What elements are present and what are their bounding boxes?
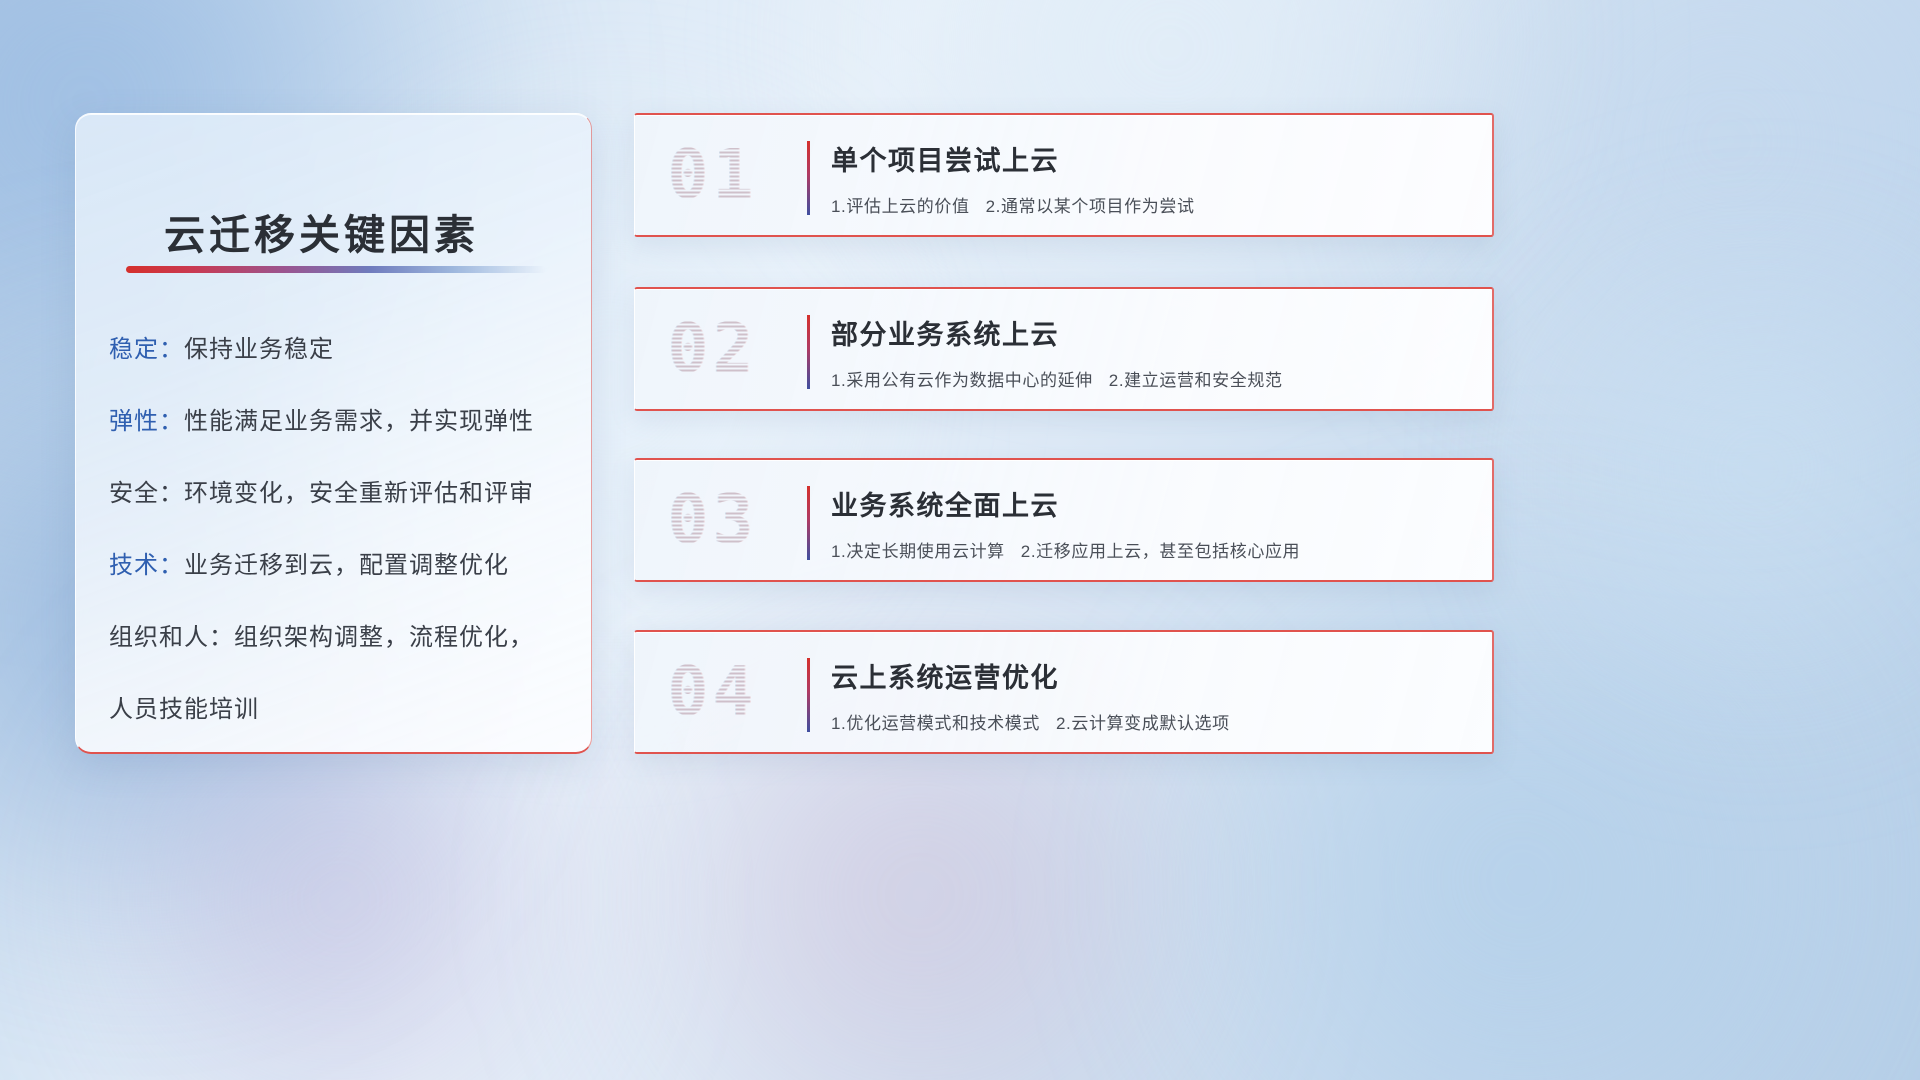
factor-text: 业务迁移到云，配置调整优化 xyxy=(184,552,509,579)
slide-stage: 云迁移关键因素 稳定：保持业务稳定弹性：性能满足业务需求，并实现弹性安全：环境变… xyxy=(0,0,1920,1080)
key-factors-panel: 云迁移关键因素 稳定：保持业务稳定弹性：性能满足业务需求，并实现弹性安全：环境变… xyxy=(75,113,592,754)
card-body: 部分业务系统上云 1.采用公有云作为数据中心的延伸2.建立运营和安全规范 xyxy=(831,313,1474,391)
card-divider-accent xyxy=(807,141,810,215)
card-body: 单个项目尝试上云 1.评估上云的价值2.通常以某个项目作为尝试 xyxy=(831,139,1474,217)
factor-item: 人员技能培训 xyxy=(109,674,571,746)
card-title: 部分业务系统上云 xyxy=(831,313,1474,352)
factor-label: 技术： xyxy=(109,552,184,579)
factor-label: 安全： xyxy=(109,480,184,507)
card-divider-accent xyxy=(807,315,810,389)
factor-text: 组织架构调整，流程优化， xyxy=(234,624,534,651)
card-point: 1.评估上云的价值 xyxy=(831,197,970,216)
factor-item: 技术：业务迁移到云，配置调整优化 xyxy=(109,530,571,602)
card-divider-accent xyxy=(807,658,810,732)
card-point: 1.采用公有云作为数据中心的延伸 xyxy=(831,371,1093,390)
card-title: 单个项目尝试上云 xyxy=(831,139,1474,178)
card-point: 2.建立运营和安全规范 xyxy=(1109,371,1283,390)
title-underline-accent xyxy=(126,266,546,273)
factor-item: 稳定：保持业务稳定 xyxy=(109,314,571,386)
factor-item: 组织和人：组织架构调整，流程优化， xyxy=(109,602,571,674)
factor-text: 保持业务稳定 xyxy=(184,336,334,363)
card-divider-accent xyxy=(807,486,810,560)
stage-number-04: 04 xyxy=(667,653,757,732)
card-body: 云上系统运营优化 1.优化运营模式和技术模式2.云计算变成默认选项 xyxy=(831,656,1474,734)
card-point: 2.云计算变成默认选项 xyxy=(1056,714,1230,733)
card-body: 业务系统全面上云 1.决定长期使用云计算2.迁移应用上云，甚至包括核心应用 xyxy=(831,484,1474,562)
factor-label: 组织和人： xyxy=(109,624,234,651)
factor-item: 弹性：性能满足业务需求，并实现弹性 xyxy=(109,386,571,458)
card-points: 1.优化运营模式和技术模式2.云计算变成默认选项 xyxy=(831,709,1474,734)
stage-card-01[interactable]: 01 单个项目尝试上云 1.评估上云的价值2.通常以某个项目作为尝试 xyxy=(634,113,1494,237)
page-title: 云迁移关键因素 xyxy=(164,201,479,261)
stage-number-02: 02 xyxy=(667,310,757,389)
stage-number-01: 01 xyxy=(667,136,757,215)
factor-label: 稳定： xyxy=(109,336,184,363)
factor-text: 环境变化，安全重新评估和评审 xyxy=(184,480,534,507)
card-points: 1.评估上云的价值2.通常以某个项目作为尝试 xyxy=(831,192,1474,217)
stage-card-03[interactable]: 03 业务系统全面上云 1.决定长期使用云计算2.迁移应用上云，甚至包括核心应用 xyxy=(634,458,1494,582)
card-point: 2.迁移应用上云，甚至包括核心应用 xyxy=(1021,542,1300,561)
factor-text: 性能满足业务需求，并实现弹性 xyxy=(184,408,534,435)
factor-item: 安全：环境变化，安全重新评估和评审 xyxy=(109,458,571,530)
stage-number-03: 03 xyxy=(667,481,757,560)
card-title: 业务系统全面上云 xyxy=(831,484,1474,523)
factor-label: 弹性： xyxy=(109,408,184,435)
stage-card-04[interactable]: 04 云上系统运营优化 1.优化运营模式和技术模式2.云计算变成默认选项 xyxy=(634,630,1494,754)
card-points: 1.决定长期使用云计算2.迁移应用上云，甚至包括核心应用 xyxy=(831,537,1474,562)
card-point: 1.优化运营模式和技术模式 xyxy=(831,714,1040,733)
card-point: 1.决定长期使用云计算 xyxy=(831,542,1005,561)
stage-card-02[interactable]: 02 部分业务系统上云 1.采用公有云作为数据中心的延伸2.建立运营和安全规范 xyxy=(634,287,1494,411)
factor-list: 稳定：保持业务稳定弹性：性能满足业务需求，并实现弹性安全：环境变化，安全重新评估… xyxy=(109,314,571,746)
card-points: 1.采用公有云作为数据中心的延伸2.建立运营和安全规范 xyxy=(831,366,1474,391)
card-title: 云上系统运营优化 xyxy=(831,656,1474,695)
card-point: 2.通常以某个项目作为尝试 xyxy=(986,197,1195,216)
factor-text: 人员技能培训 xyxy=(109,696,259,723)
